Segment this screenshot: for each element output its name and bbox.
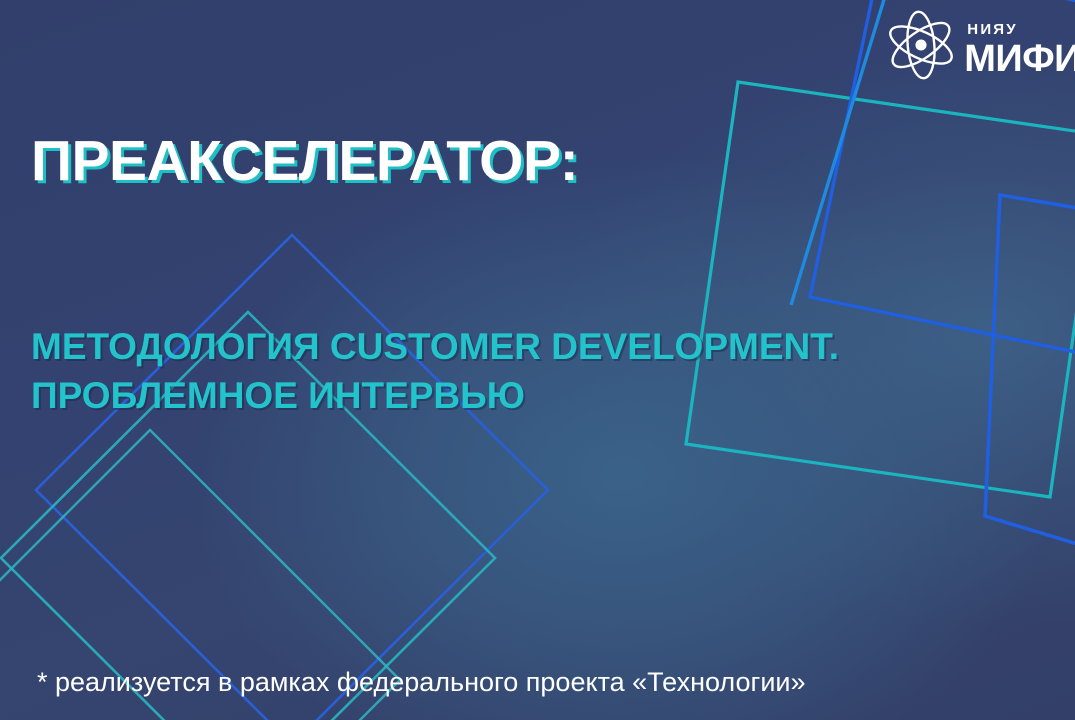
slide-footnote: * реализуется в рамках федерального прое… [37,667,806,698]
presentation-slide: НИЯУ МИФИ ПРЕАКСЕЛЕРАТОР: МЕТОДОЛОГИЯ CU… [0,0,1075,720]
accent-line-blue-vertical [791,0,893,305]
logo-org-name: МИФИ [964,40,1075,80]
rotated-square-blue-lower [985,195,1075,600]
slide-subtitle-line-2: ПРОБЛЕМНОЕ ИНТЕРВЬЮ [31,371,839,420]
rotated-square-teal [686,82,1075,497]
slide-title: ПРЕАКСЕЛЕРАТОР: [31,132,578,192]
mephi-logo: НИЯУ МИФИ [884,8,1075,82]
logo-wordmark: НИЯУ МИФИ [964,8,1075,80]
slide-subtitle-line-1: МЕТОДОЛОГИЯ CUSTOMER DEVELOPMENT. [31,322,839,371]
slide-subtitle: МЕТОДОЛОГИЯ CUSTOMER DEVELOPMENT. ПРОБЛЕ… [31,322,839,420]
atom-icon [884,8,958,82]
logo-org-short: НИЯУ [967,22,1018,37]
diamond-blue [36,235,548,720]
